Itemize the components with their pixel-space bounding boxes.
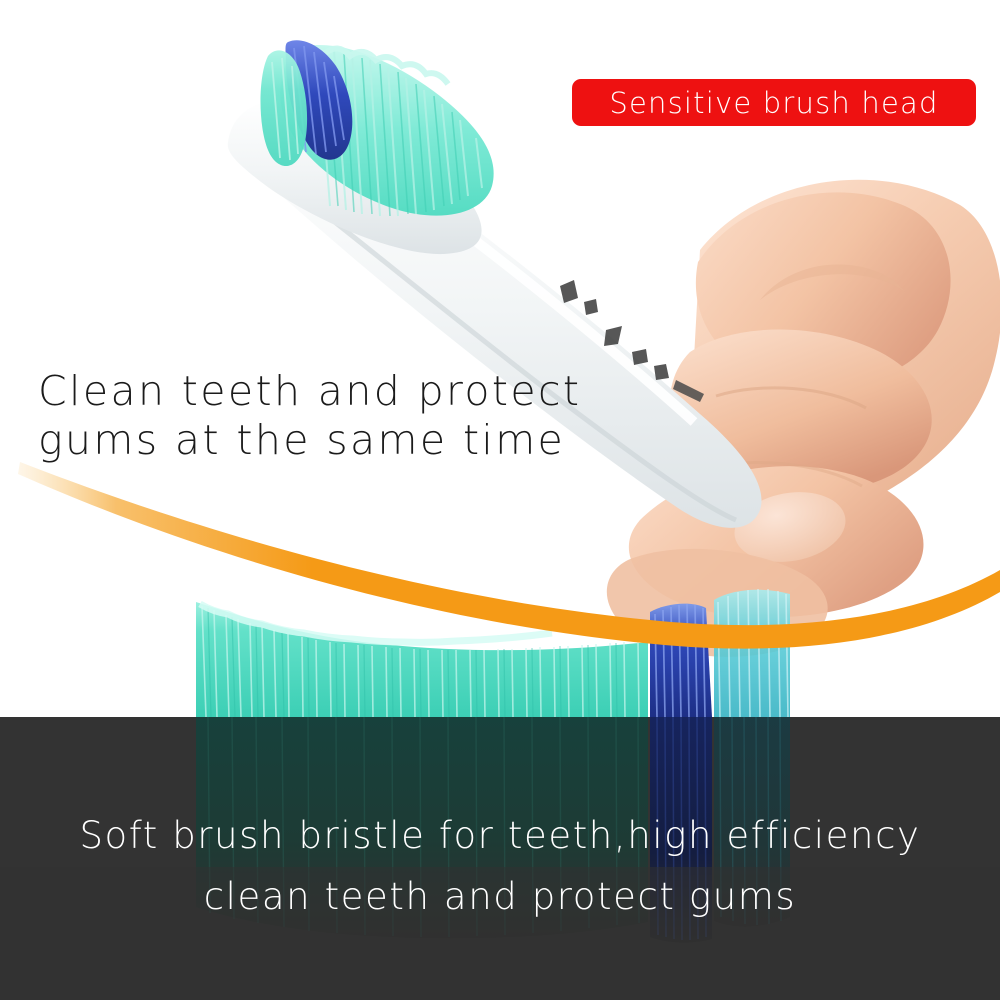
product-marketing-image: Sensitive brush head Clean teeth and pro… <box>0 0 1000 1000</box>
top-stage: Sensitive brush head Clean teeth and pro… <box>0 0 1000 717</box>
headline-line-1: Clean teeth and protect <box>38 367 581 415</box>
badge-label: Sensitive brush head <box>609 86 938 120</box>
caption-line-2: clean teeth and protect gums <box>0 866 1000 927</box>
sensitive-brush-head-badge: Sensitive brush head <box>572 79 976 126</box>
caption: Soft brush bristle for teeth,high effici… <box>0 805 1000 927</box>
headline-line-2: gums at the same time <box>38 416 598 465</box>
macro-bristles-svg <box>0 560 1000 717</box>
macro-bristle-field <box>0 560 1000 717</box>
caption-line-1: Soft brush bristle for teeth,high effici… <box>79 814 920 857</box>
headline: Clean teeth and protect gums at the same… <box>38 367 598 465</box>
brush-head <box>228 40 494 254</box>
bottom-dark-band: Soft brush bristle for teeth,high effici… <box>0 717 1000 1000</box>
